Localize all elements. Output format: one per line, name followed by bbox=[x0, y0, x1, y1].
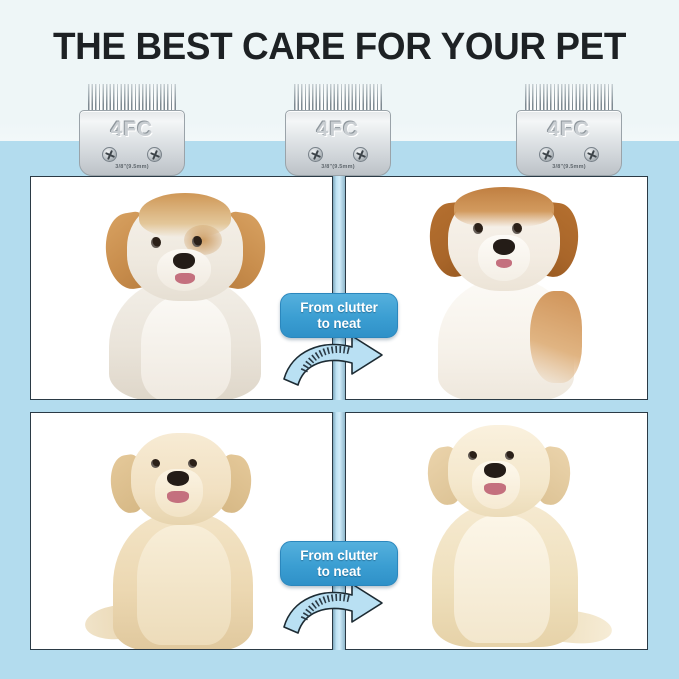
blade-size-label: 3/8"(9.5mm) bbox=[517, 164, 621, 170]
screw-icon bbox=[539, 147, 554, 162]
dog-photo-golden-retriever-before bbox=[79, 429, 279, 650]
screw-icon bbox=[308, 147, 323, 162]
blade-body: 4FC 3/8"(9.5mm) bbox=[285, 110, 391, 176]
curved-arrow-icon bbox=[278, 581, 402, 641]
callout-pill-top: From clutter to neat bbox=[280, 293, 398, 338]
callout-line-1: From clutter bbox=[300, 300, 378, 316]
blade-model-label: 4FC bbox=[80, 118, 184, 142]
page-title: THE BEST CARE FOR YOUR PET bbox=[10, 26, 669, 69]
dog-photo-golden-retriever-after bbox=[398, 423, 604, 650]
curved-arrow-icon bbox=[278, 333, 402, 393]
callout-pill-bottom: From clutter to neat bbox=[280, 541, 398, 586]
callout-badge-top: From clutter to neat bbox=[280, 293, 398, 338]
clipper-blade: 4FC 3/8"(9.5mm) bbox=[516, 84, 622, 176]
product-poster: THE BEST CARE FOR YOUR PET 4FC 3/8"(9.5m… bbox=[0, 0, 679, 679]
bottom-background-band bbox=[0, 650, 679, 679]
blade-body: 4FC 3/8"(9.5mm) bbox=[79, 110, 185, 176]
clipper-blade: 4FC 3/8"(9.5mm) bbox=[285, 84, 391, 176]
blade-row: 4FC 3/8"(9.5mm) 4FC 3/8"(9.5mm) 4FC 3/8"… bbox=[0, 84, 679, 180]
callout-badge-bottom: From clutter to neat bbox=[280, 541, 398, 586]
dog-photo-groomed-havanese bbox=[408, 187, 598, 400]
screw-icon bbox=[147, 147, 162, 162]
blade-size-label: 3/8"(9.5mm) bbox=[286, 164, 390, 170]
clipper-blade: 4FC 3/8"(9.5mm) bbox=[79, 84, 185, 176]
dog-photo-shaggy-terrier bbox=[89, 191, 279, 400]
screw-icon bbox=[353, 147, 368, 162]
blade-body: 4FC 3/8"(9.5mm) bbox=[516, 110, 622, 176]
blade-model-label: 4FC bbox=[286, 118, 390, 142]
screw-icon bbox=[102, 147, 117, 162]
callout-line-2: to neat bbox=[317, 316, 361, 332]
callout-line-2: to neat bbox=[317, 564, 361, 580]
blade-model-label: 4FC bbox=[517, 118, 621, 142]
blade-size-label: 3/8"(9.5mm) bbox=[80, 164, 184, 170]
screw-icon bbox=[584, 147, 599, 162]
callout-line-1: From clutter bbox=[300, 548, 378, 564]
